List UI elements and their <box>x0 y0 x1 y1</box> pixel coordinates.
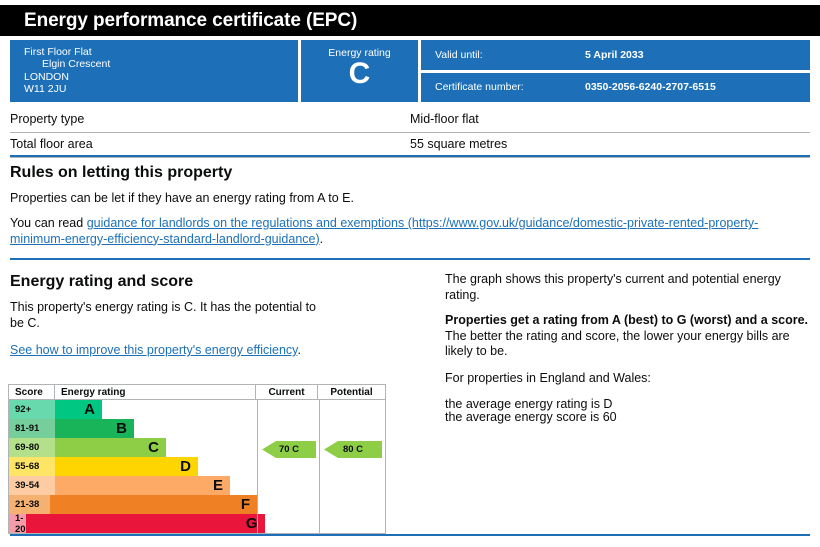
epc-band-row: 69-80C <box>9 438 257 457</box>
page-title: Energy performance certificate (EPC) <box>0 10 357 32</box>
epc-band-row: 55-68D <box>9 457 257 476</box>
letting-heading: Rules on letting this property <box>10 163 232 182</box>
letting-read-suffix: . <box>320 232 323 246</box>
property-type-value: Mid-floor flat <box>410 112 479 127</box>
certificate-meta: Valid until: 5 April 2033 Certificate nu… <box>421 40 810 102</box>
letting-read-prefix: You can read <box>10 216 87 230</box>
epc-band-bar: G <box>26 514 265 533</box>
valid-until-label: Valid until: <box>435 49 585 61</box>
epc-band-row: 21-38F <box>9 495 257 514</box>
address-line-4: W11 2JU <box>24 83 298 95</box>
current-rating-column: 70 C <box>257 400 319 533</box>
epc-band-row: 81-91B <box>9 419 257 438</box>
column-header-current: Current <box>255 385 317 399</box>
rating-scale-rest: The better the rating and score, the low… <box>445 329 790 359</box>
epc-band-row: 92+A <box>9 400 257 419</box>
epc-band-score: 1-20 <box>9 514 26 533</box>
landlord-guidance-link[interactable]: guidance for landlords on the regulation… <box>10 216 758 246</box>
epc-band-bar: D <box>55 457 198 476</box>
current-rating-arrow: 70 C <box>262 441 316 458</box>
epc-band-bar-wrap: E <box>55 476 257 495</box>
epc-value-columns: 70 C 80 C <box>257 400 387 533</box>
address-line-3: LONDON <box>24 71 298 83</box>
epc-page: Energy performance certificate (EPC) Fir… <box>0 0 820 547</box>
epc-band-score: 55-68 <box>9 457 55 476</box>
letting-paragraph: Properties can be let if they have an en… <box>10 191 800 207</box>
epc-band-bar: E <box>55 476 230 495</box>
epc-band-bar-wrap: F <box>50 495 257 514</box>
total-floor-area-label: Total floor area <box>10 137 410 152</box>
rating-scale-paragraph: Properties get a rating from A (best) to… <box>445 313 817 360</box>
epc-band-score: 69-80 <box>9 438 55 457</box>
rating-paragraph: This property's energy rating is C. It h… <box>10 300 330 331</box>
energy-rating-badge: Energy rating C <box>301 40 418 102</box>
epc-rating-graph: Score Energy rating Current Potential 92… <box>8 384 386 534</box>
column-header-potential: Potential <box>317 385 385 399</box>
epc-band-bar: C <box>55 438 166 457</box>
epc-band-bar-wrap: D <box>55 457 257 476</box>
certificate-number-value: 0350-2056-6240-2707-6515 <box>585 81 716 93</box>
average-score-text: the average energy score is 60 <box>445 410 815 426</box>
region-intro-paragraph: For properties in England and Wales: <box>445 371 815 387</box>
epc-band-bar: B <box>55 419 134 438</box>
graph-intro-paragraph: The graph shows this property's current … <box>445 272 815 303</box>
potential-rating-arrow: 80 C <box>324 441 382 458</box>
epc-band-row: 39-54E <box>9 476 257 495</box>
improve-efficiency-link[interactable]: See how to improve this property's energ… <box>10 343 297 357</box>
address-line-2: Elgin Crescent <box>24 58 298 70</box>
certificate-summary: First Floor Flat Elgin Crescent LONDON W… <box>10 40 810 102</box>
property-address: First Floor Flat Elgin Crescent LONDON W… <box>10 40 298 102</box>
property-type-label: Property type <box>10 112 410 127</box>
epc-band-bar-wrap: C <box>55 438 257 457</box>
epc-band-score: 39-54 <box>9 476 55 495</box>
improve-link-suffix: . <box>297 343 300 357</box>
section-divider-letting <box>10 155 810 157</box>
improve-efficiency-paragraph: See how to improve this property's energ… <box>10 343 320 359</box>
certificate-number-row: Certificate number: 0350-2056-6240-2707-… <box>421 73 810 103</box>
epc-band-score: 92+ <box>9 400 55 419</box>
epc-band-row: 1-20G <box>9 514 257 533</box>
letting-guidance-paragraph: You can read guidance for landlords on t… <box>10 216 800 247</box>
epc-band-bar-wrap: G <box>26 514 265 533</box>
table-row: Property type Mid-floor flat <box>10 108 810 133</box>
property-details-table: Property type Mid-floor flat Total floor… <box>10 108 810 158</box>
epc-band-bar-wrap: B <box>55 419 257 438</box>
epc-graph-header: Score Energy rating Current Potential <box>9 385 385 400</box>
column-header-score: Score <box>9 385 55 399</box>
epc-band-bar: F <box>50 495 257 514</box>
epc-graph-body: 92+A81-91B69-80C55-68D39-54E21-38F1-20G … <box>9 400 385 533</box>
potential-rating-column: 80 C <box>319 400 387 533</box>
address-line-1: First Floor Flat <box>24 46 298 58</box>
epc-band-score: 21-38 <box>9 495 50 514</box>
epc-band-bar: A <box>55 400 102 419</box>
column-header-energy-rating: Energy rating <box>55 385 255 399</box>
section-divider-rating <box>10 258 810 260</box>
valid-until-value: 5 April 2033 <box>585 49 644 61</box>
document-title-bar: Energy performance certificate (EPC) <box>0 5 820 36</box>
epc-band-list: 92+A81-91B69-80C55-68D39-54E21-38F1-20G <box>9 400 257 533</box>
certificate-number-label: Certificate number: <box>435 81 585 93</box>
section-divider-bottom <box>10 534 810 536</box>
rating-scale-bold: Properties get a rating from A (best) to… <box>445 313 808 327</box>
total-floor-area-value: 55 square metres <box>410 137 507 152</box>
valid-until-row: Valid until: 5 April 2033 <box>421 40 810 70</box>
rating-section-heading: Energy rating and score <box>10 272 193 291</box>
energy-rating-letter: C <box>301 58 418 90</box>
epc-band-score: 81-91 <box>9 419 55 438</box>
epc-band-bar-wrap: A <box>55 400 257 419</box>
